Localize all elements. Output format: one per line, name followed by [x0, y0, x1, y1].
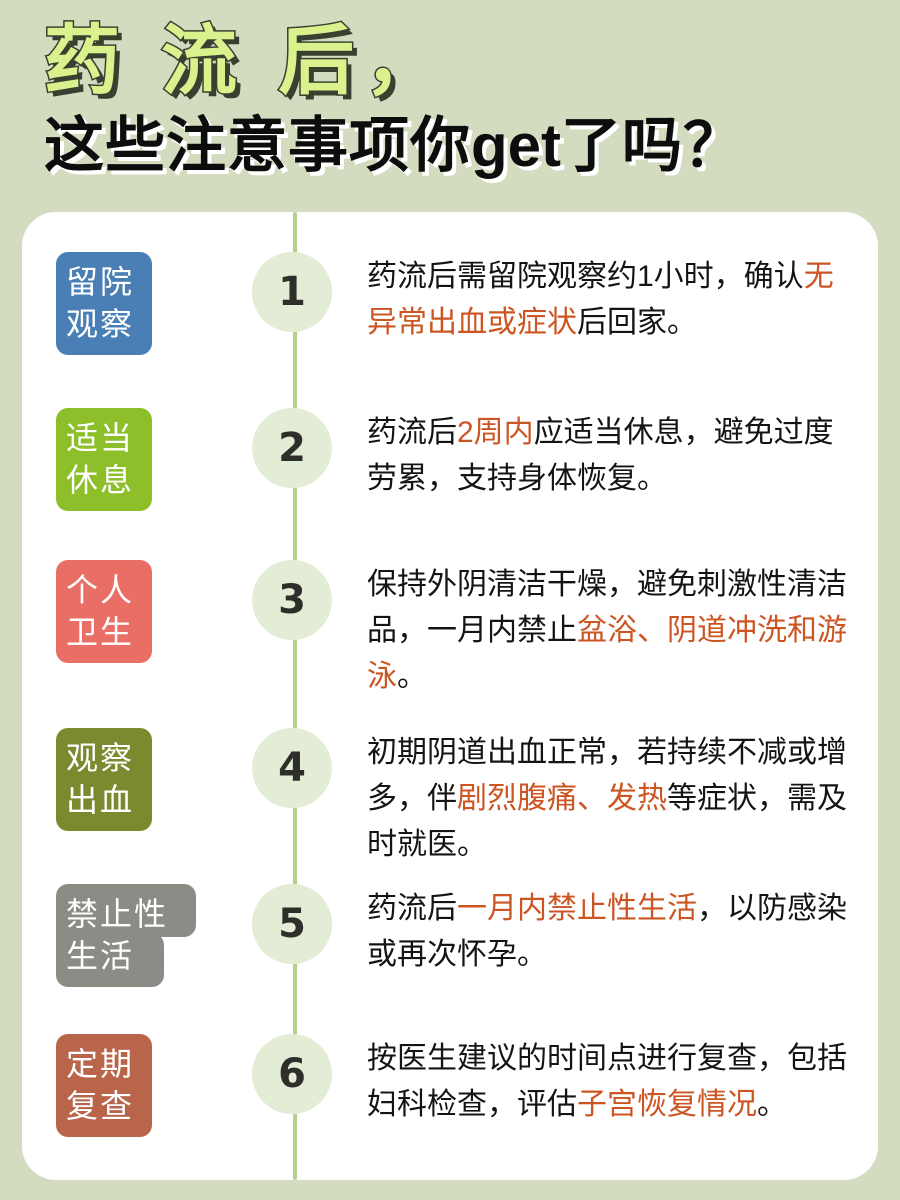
timeline-row: 适当休息2药流后2周内应适当休息，避免过度劳累，支持身体恢复。 — [22, 408, 878, 511]
badge-column: 适当休息 — [22, 408, 217, 511]
page-title-line-2: 这些注意事项你get了吗？ — [44, 114, 900, 177]
badge-column: 定期复查 — [22, 1034, 217, 1137]
page-title-line-1: 药 流 后， — [44, 24, 900, 100]
step-description: 保持外阴清洁干燥，避免刺激性清洁品，一月内禁止盆浴、阴道冲洗和游泳。 — [367, 562, 852, 700]
timeline-row: 个人卫生3保持外阴清洁干燥，避免刺激性清洁品，一月内禁止盆浴、阴道冲洗和游泳。 — [22, 560, 878, 700]
step-number-badge: 3 — [252, 560, 332, 640]
step-number-column: 1 — [217, 252, 367, 332]
page-title-line-2-pre: 这些注意事项你 — [44, 112, 471, 179]
plain-text: 后回家。 — [577, 306, 697, 339]
highlighted-text: 2周内 — [457, 416, 534, 449]
category-badge-line-2: 生活 — [56, 933, 164, 987]
category-badge-line-2: 观察 — [66, 303, 142, 345]
badge-column: 禁止性生活 — [22, 884, 217, 987]
category-badge-line-1: 禁止性 — [56, 884, 196, 937]
step-number-badge: 6 — [252, 1034, 332, 1114]
category-badge[interactable]: 个人卫生 — [56, 560, 152, 663]
highlighted-text: 一月内禁止性生活 — [457, 892, 697, 925]
content-card: 留院观察1药流后需留院观察约1小时，确认无异常出血或症状后回家。适当休息2药流后… — [22, 212, 878, 1180]
step-text-column: 药流后2周内应适当休息，避免过度劳累，支持身体恢复。 — [367, 408, 878, 502]
step-text-column: 药流后一月内禁止性生活，以防感染或再次怀孕。 — [367, 884, 878, 978]
category-badge[interactable]: 禁止性生活 — [56, 884, 152, 987]
timeline-row: 留院观察1药流后需留院观察约1小时，确认无异常出血或症状后回家。 — [22, 252, 878, 355]
step-description: 药流后一月内禁止性生活，以防感染或再次怀孕。 — [367, 886, 852, 978]
badge-column: 观察出血 — [22, 728, 217, 831]
plain-text: 药流后 — [367, 892, 457, 925]
step-description: 药流后需留院观察约1小时，确认无异常出血或症状后回家。 — [367, 254, 852, 346]
timeline-row: 禁止性生活5药流后一月内禁止性生活，以防感染或再次怀孕。 — [22, 884, 878, 987]
step-text-column: 初期阴道出血正常，若持续不减或增多，伴剧烈腹痛、发热等症状，需及时就医。 — [367, 728, 878, 868]
category-badge[interactable]: 留院观察 — [56, 252, 152, 355]
highlighted-text: 子宫恢复情况 — [577, 1088, 757, 1121]
step-number-column: 2 — [217, 408, 367, 488]
step-description: 药流后2周内应适当休息，避免过度劳累，支持身体恢复。 — [367, 410, 852, 502]
step-number-column: 5 — [217, 884, 367, 964]
page-title-line-2-post: 了吗？ — [561, 112, 744, 179]
plain-text: 。 — [757, 1088, 787, 1121]
step-number-column: 4 — [217, 728, 367, 808]
timeline-rows: 留院观察1药流后需留院观察约1小时，确认无异常出血或症状后回家。适当休息2药流后… — [22, 212, 878, 1180]
category-badge-line-2: 复查 — [66, 1085, 142, 1127]
step-text-column: 药流后需留院观察约1小时，确认无异常出血或症状后回家。 — [367, 252, 878, 346]
plain-text: 药流后需留院观察约1小时，确认 — [367, 260, 804, 293]
step-number-column: 6 — [217, 1034, 367, 1114]
header: 药 流 后， 这些注意事项你get了吗？ — [0, 0, 900, 170]
category-badge[interactable]: 观察出血 — [56, 728, 152, 831]
step-number-badge: 4 — [252, 728, 332, 808]
category-badge-line-2: 出血 — [66, 779, 142, 821]
highlighted-text: 剧烈腹痛、发热 — [457, 782, 667, 815]
plain-text: 药流后 — [367, 416, 457, 449]
badge-column: 留院观察 — [22, 252, 217, 355]
step-number-badge: 1 — [252, 252, 332, 332]
category-badge-line-2: 卫生 — [66, 611, 142, 653]
step-description: 初期阴道出血正常，若持续不减或增多，伴剧烈腹痛、发热等症状，需及时就医。 — [367, 730, 852, 868]
timeline-row: 观察出血4初期阴道出血正常，若持续不减或增多，伴剧烈腹痛、发热等症状，需及时就医… — [22, 728, 878, 868]
step-description: 按医生建议的时间点进行复查，包括妇科检查，评估子宫恢复情况。 — [367, 1036, 852, 1128]
page-title-line-2-latin: get — [471, 112, 561, 179]
plain-text: 。 — [397, 660, 427, 693]
category-badge-line-1: 定期 — [66, 1043, 142, 1085]
step-text-column: 按医生建议的时间点进行复查，包括妇科检查，评估子宫恢复情况。 — [367, 1034, 878, 1128]
category-badge[interactable]: 适当休息 — [56, 408, 152, 511]
step-number-badge: 2 — [252, 408, 332, 488]
category-badge-line-1: 留院 — [66, 261, 142, 303]
category-badge-line-1: 观察 — [66, 737, 142, 779]
timeline-row: 定期复查6按医生建议的时间点进行复查，包括妇科检查，评估子宫恢复情况。 — [22, 1034, 878, 1137]
category-badge-line-2: 休息 — [66, 459, 142, 501]
category-badge-line-1: 适当 — [66, 417, 142, 459]
step-number-badge: 5 — [252, 884, 332, 964]
step-text-column: 保持外阴清洁干燥，避免刺激性清洁品，一月内禁止盆浴、阴道冲洗和游泳。 — [367, 560, 878, 700]
category-badge[interactable]: 定期复查 — [56, 1034, 152, 1137]
category-badge-line-1: 个人 — [66, 569, 142, 611]
step-number-column: 3 — [217, 560, 367, 640]
badge-column: 个人卫生 — [22, 560, 217, 663]
